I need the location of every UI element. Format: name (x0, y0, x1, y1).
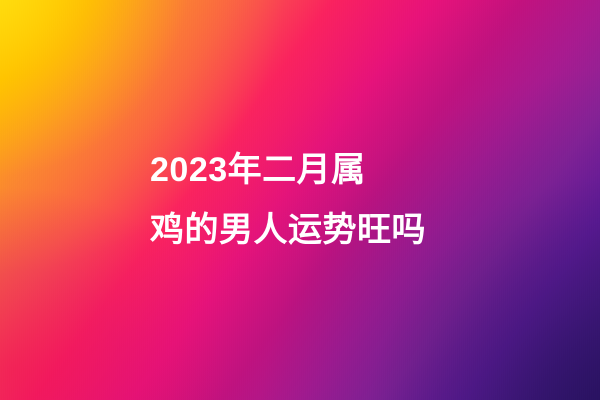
page-title: 2023年二月属 鸡的男人运势旺吗 (150, 0, 480, 400)
page-title-line-1: 2023年二月属 (150, 140, 480, 200)
article-thumbnail-card: 2023年二月属 鸡的男人运势旺吗 (0, 0, 600, 400)
page-title-line-2: 鸡的男人运势旺吗 (150, 200, 480, 260)
